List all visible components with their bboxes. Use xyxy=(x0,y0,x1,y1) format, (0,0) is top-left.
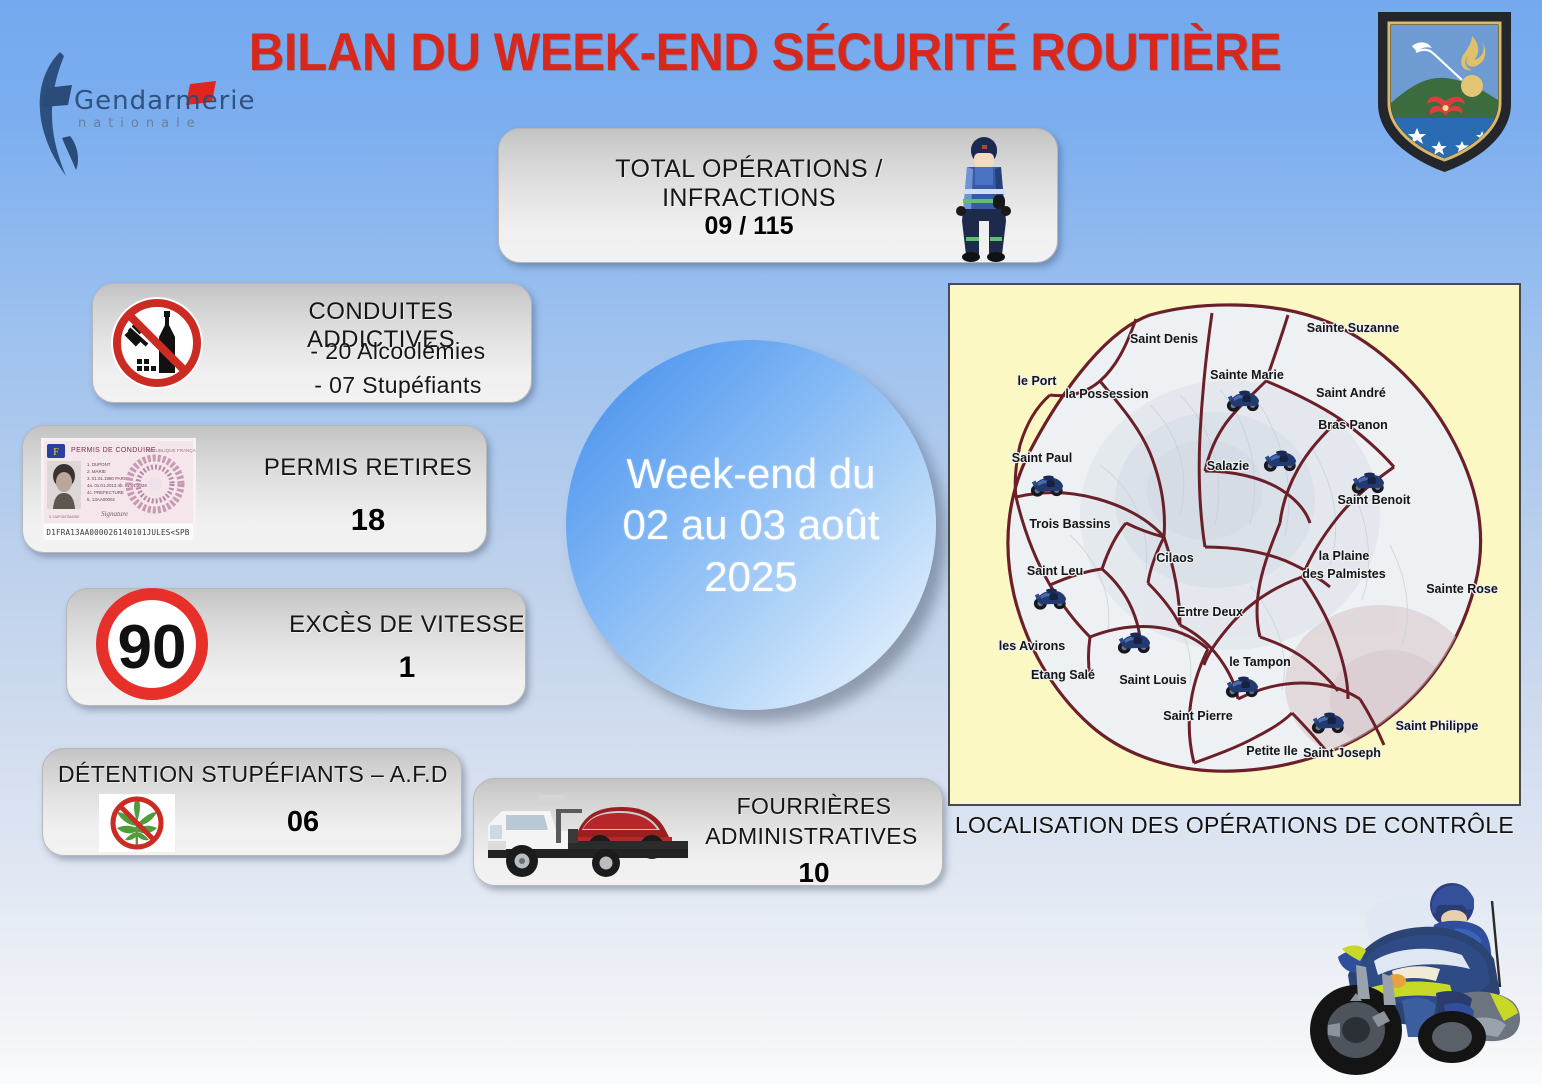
commune-label: Sainte Suzanne xyxy=(1307,321,1399,335)
page-title: BILAN DU WEEK-END SÉCURITÉ ROUTIÈRE xyxy=(216,22,1313,83)
commune-label: Sainte Rose xyxy=(1426,582,1498,596)
fourrieres-label-line2: ADMINISTRATIVES xyxy=(679,823,944,850)
total-operations-value: 09 / 115 xyxy=(539,212,959,241)
exces-vitesse-value: 1 xyxy=(277,651,537,685)
card-exces-de-vitesse[interactable]: EXCÈS DE VITESSE 1 90 xyxy=(66,588,526,706)
svg-text:3. 01.01.1980 PARIS: 3. 01.01.1980 PARIS xyxy=(87,476,128,481)
weekend-line1: Week-end du xyxy=(626,448,875,499)
no-cannabis-icon xyxy=(99,794,175,852)
commune-label: Sainte Marie xyxy=(1210,368,1284,382)
no-alcohol-no-drugs-icon xyxy=(107,293,207,393)
svg-text:D1FRA13AA000026140101JULES<SPB: D1FRA13AA000026140101JULES<SPB xyxy=(46,528,189,537)
exces-vitesse-label: EXCÈS DE VITESSE xyxy=(277,611,537,639)
stupefiants-line: - 07 Stupéfiants xyxy=(253,372,543,399)
logo-wordmark: Gendarmerie xyxy=(74,86,256,116)
fourrieres-value: 10 xyxy=(689,857,939,889)
commune-label: les Avirons xyxy=(999,639,1066,653)
commune-label: Saint Paul xyxy=(1012,451,1072,465)
detention-stupefiants-label: DÉTENTION STUPÉFIANTS – A.F.D xyxy=(51,761,455,788)
commune-label: Saint André xyxy=(1316,386,1386,400)
card-detention-stupefiants[interactable]: DÉTENTION STUPÉFIANTS – A.F.D 06 xyxy=(42,748,462,856)
circle-text-block: Week-end du 02 au 03 août 2025 xyxy=(566,340,936,710)
card-fourrieres-administratives[interactable]: FOURRIÈRES ADMINISTRATIVES 10 xyxy=(473,778,943,886)
commune-label: la Possession xyxy=(1065,387,1148,401)
svg-text:1. DUPONT: 1. DUPONT xyxy=(87,462,111,467)
card-total-operations[interactable]: TOTAL OPÉRATIONS / INFRACTIONS 09 / 115 xyxy=(498,128,1058,263)
card-permis-retires[interactable]: PERMIS RETIRES 18 F PERMIS DE CONDUIRE R… xyxy=(22,425,487,553)
commune-label: Etang Salé xyxy=(1031,668,1095,682)
gendarmerie-nationale-logo: Gendarmerie nationale xyxy=(18,50,233,180)
map-caption: LOCALISATION DES OPÉRATIONS DE CONTRÔLE xyxy=(948,812,1521,839)
reunion-gendarmerie-shield-icon xyxy=(1372,8,1517,176)
commune-label: Saint Joseph xyxy=(1303,746,1381,760)
commune-label: Saint Benoit xyxy=(1338,493,1412,507)
infographic-page: BILAN DU WEEK-END SÉCURITÉ ROUTIÈRE Gend… xyxy=(0,0,1542,1084)
weekend-date-circle: Week-end du 02 au 03 août 2025 xyxy=(566,340,936,710)
commune-label: Saint Denis xyxy=(1130,332,1198,346)
speed-limit-sign-icon: 90 xyxy=(93,585,211,703)
commune-label: la Plaine xyxy=(1319,549,1370,563)
alcoolemies-line: - 20 Alcoolémies xyxy=(253,338,543,365)
commune-label: le Tampon xyxy=(1229,655,1291,669)
commune-label: des Palmistes xyxy=(1302,567,1385,581)
card-conduites-addictives[interactable]: CONDUITES ADDICTIVES - 20 Alcoolémies - … xyxy=(92,283,532,403)
shield-badge xyxy=(1372,8,1517,176)
commune-label: Saint Louis xyxy=(1119,673,1186,687)
commune-label: Cilaos xyxy=(1156,551,1194,565)
weekend-line2: 02 au 03 août xyxy=(623,499,880,550)
permis-retires-value: 18 xyxy=(253,502,483,538)
commune-label: Salazie xyxy=(1207,459,1249,473)
commune-label: Bras Panon xyxy=(1318,418,1387,432)
commune-label: Petite Ile xyxy=(1246,744,1297,758)
svg-text:4c. PREFECTURE: 4c. PREFECTURE xyxy=(87,490,124,495)
weekend-line3: 2025 xyxy=(704,551,797,602)
commune-label: Trois Bassins xyxy=(1029,517,1110,531)
commune-label: Entre Deux xyxy=(1177,605,1243,619)
speed-limit-value: 90 xyxy=(118,613,187,682)
svg-text:Signature: Signature xyxy=(101,510,128,518)
svg-text:2. MARIE: 2. MARIE xyxy=(87,469,106,474)
reunion-map[interactable]: Saint DenisSainte Suzannele Portla Posse… xyxy=(948,283,1521,806)
commune-label: Saint Philippe xyxy=(1396,719,1479,733)
commune-label: Saint Pierre xyxy=(1163,709,1233,723)
total-operations-label: TOTAL OPÉRATIONS / INFRACTIONS xyxy=(539,155,959,213)
driving-licence-icon: F PERMIS DE CONDUIRE RÉPUBLIQUE FRANÇAIS… xyxy=(41,438,196,543)
svg-text:5. 13AA00002: 5. 13AA00002 xyxy=(87,497,115,502)
svg-text:F: F xyxy=(53,447,59,458)
gendarme-motorcycle-icon xyxy=(1304,865,1534,1080)
tow-truck-icon xyxy=(482,785,692,883)
logo-sub-wordmark: nationale xyxy=(78,116,202,131)
svg-text:PERMIS DE CONDUIRE: PERMIS DE CONDUIRE xyxy=(71,447,156,454)
permis-retires-label: PERMIS RETIRES xyxy=(253,454,483,482)
commune-label: Saint Leu xyxy=(1027,564,1083,578)
svg-text:5. DUPONTMARIE: 5. DUPONTMARIE xyxy=(49,515,80,519)
commune-label: le Port xyxy=(1018,374,1058,388)
fourrieres-label-line1: FOURRIÈRES xyxy=(689,793,939,820)
gendarme-figure-icon xyxy=(949,137,1019,262)
detention-stupefiants-value: 06 xyxy=(193,806,413,839)
reunion-map-svg: Saint DenisSainte Suzannele Portla Posse… xyxy=(950,285,1519,804)
svg-text:RÉPUBLIQUE FRANÇAISE: RÉPUBLIQUE FRANÇAISE xyxy=(146,447,196,453)
